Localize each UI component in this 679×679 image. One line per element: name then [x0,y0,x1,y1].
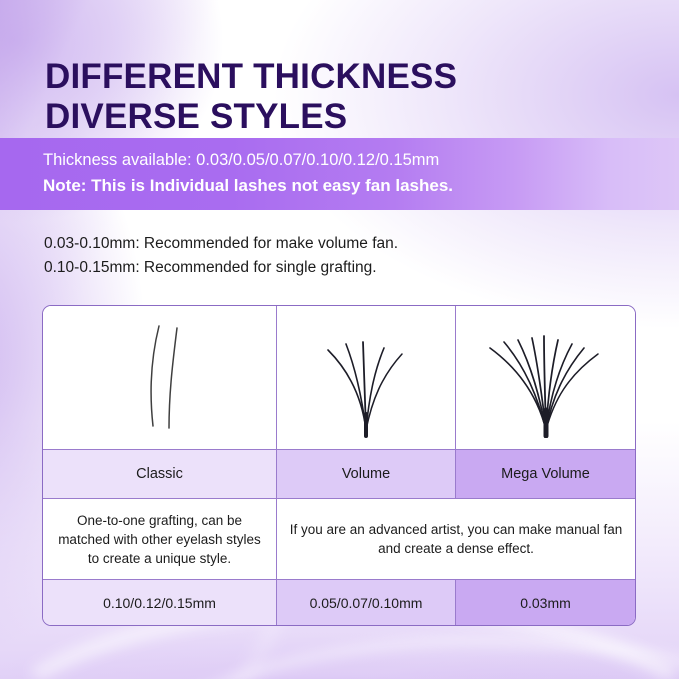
sizes-classic: 0.10/0.12/0.15mm [43,580,277,625]
recommendation-line-1: 0.03-0.10mm: Recommended for make volume… [44,232,644,256]
table-row-sizes: 0.10/0.12/0.15mm 0.05/0.07/0.10mm 0.03mm [43,579,635,625]
sizes-volume: 0.05/0.07/0.10mm [277,580,456,625]
description-classic: One-to-one grafting, can be matched with… [43,499,277,579]
page-title: DIFFERENT THICKNESS DIVERSE STYLES [45,57,645,137]
sizes-mega-volume: 0.03mm [456,580,635,625]
background-arc-two [130,636,679,679]
mega-volume-fan-icon [476,318,616,438]
product-infographic: DIFFERENT THICKNESS DIVERSE STYLES Thick… [0,0,679,679]
thickness-available-text: Thickness available: 0.03/0.05/0.07/0.10… [43,147,679,173]
cell-illustration-mega-volume [456,306,635,449]
volume-fan-icon [306,318,426,438]
label-volume: Volume [277,450,456,498]
lash-style-table: Classic Volume Mega Volume One-to-one gr… [42,305,636,626]
description-volume-mega: If you are an advanced artist, you can m… [277,499,635,579]
recommendation-block: 0.03-0.10mm: Recommended for make volume… [44,232,644,280]
note-text: Note: This is Individual lashes not easy… [43,173,679,199]
classic-lash-icon [115,318,205,438]
recommendation-line-2: 0.10-0.15mm: Recommended for single graf… [44,256,644,280]
cell-illustration-classic [43,306,277,449]
table-row-illustrations [43,306,635,449]
table-row-descriptions: One-to-one grafting, can be matched with… [43,499,635,579]
label-classic: Classic [43,450,277,498]
cell-illustration-volume [277,306,456,449]
thickness-banner: Thickness available: 0.03/0.05/0.07/0.10… [0,138,679,210]
table-row-labels: Classic Volume Mega Volume [43,449,635,499]
label-mega-volume: Mega Volume [456,450,635,498]
